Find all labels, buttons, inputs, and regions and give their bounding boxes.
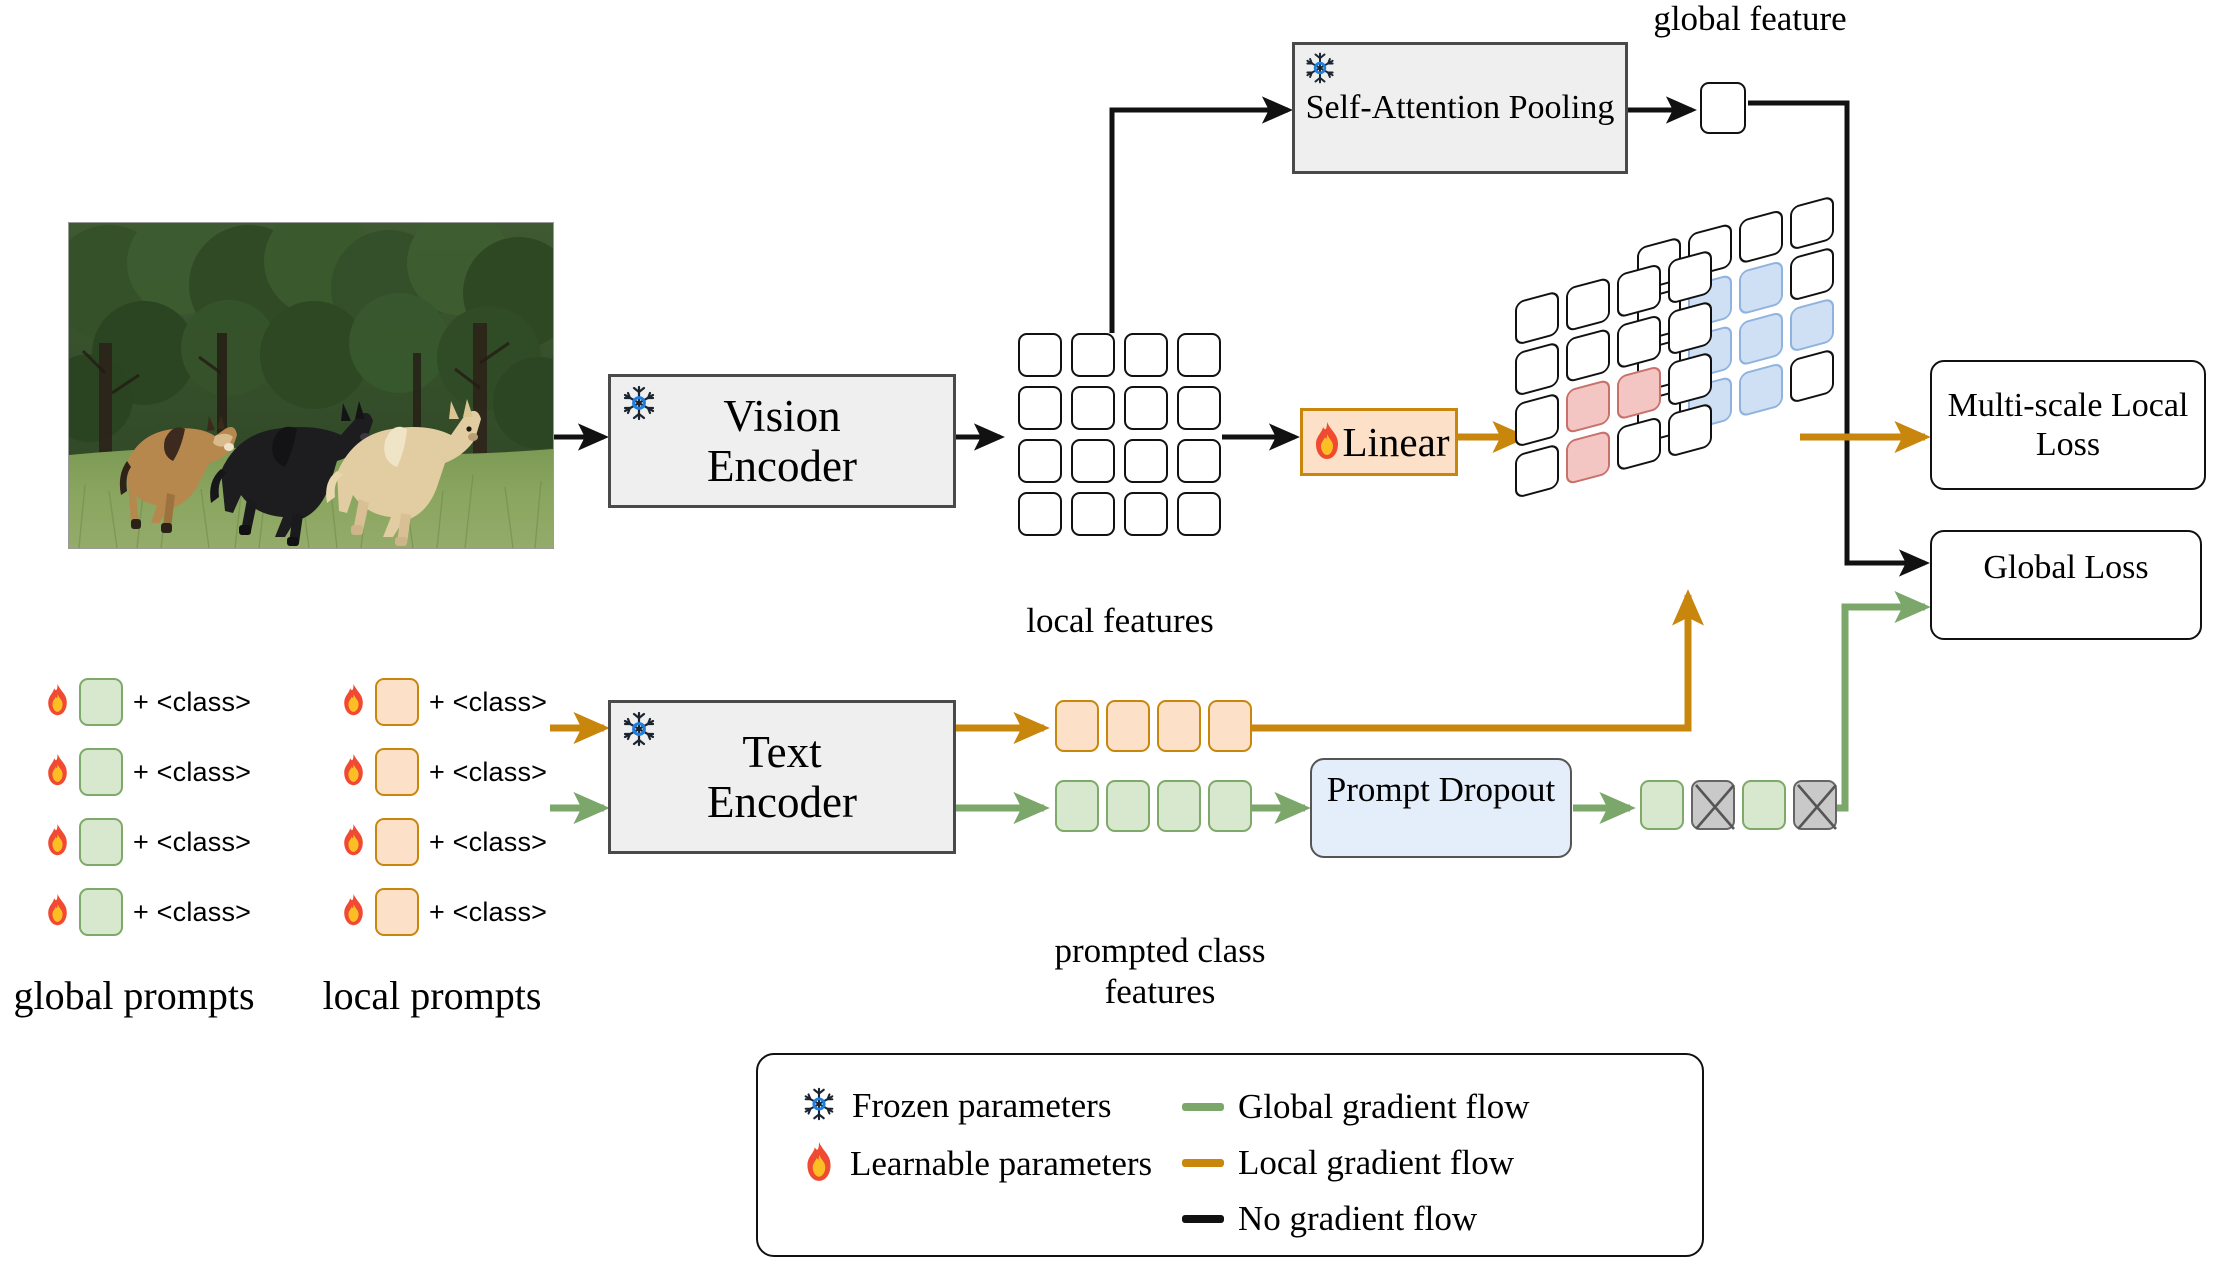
global-prompt-class-label: + <class> [133, 687, 251, 718]
local-feature-cell [1071, 386, 1115, 430]
prompted-class-features-caption: prompted class features [1000, 930, 1320, 1013]
multiscale-feature-grids [1515, 240, 1815, 560]
global-feature-token [1700, 82, 1746, 134]
multiscale-local-loss-box[interactable]: Multi-scale Local Loss [1930, 360, 2206, 490]
prompted-class-features-caption-line1: prompted class [1000, 930, 1320, 971]
local-prompt-token [375, 818, 419, 866]
prompt-dropout-label: Prompt Dropout [1327, 770, 1555, 810]
legend-local-flow-label: Local gradient flow [1238, 1143, 1514, 1183]
multiscale-local-loss-label-line1: Multi-scale [1948, 387, 2103, 424]
global-prompt-class-label: + <class> [133, 827, 251, 858]
legend-global-flow-label: Global gradient flow [1238, 1087, 1530, 1127]
flame-icon [44, 753, 71, 791]
flame-icon [802, 1141, 836, 1187]
global-feature-caption: global feature [1590, 0, 1910, 39]
local-feature-cell [1071, 439, 1115, 483]
prompted-class-feature-global [1157, 780, 1201, 832]
flame-icon [44, 823, 71, 861]
local-feature-cell [1177, 386, 1221, 430]
local-prompt-class-label: + <class> [429, 757, 547, 788]
local-flow-swatch [1182, 1159, 1224, 1167]
local-prompt-token [375, 678, 419, 726]
global-prompt-token [79, 818, 123, 866]
global-prompt-class-label: + <class> [133, 757, 251, 788]
local-feature-cell [1018, 333, 1062, 377]
global-prompt-token [79, 678, 123, 726]
legend-learnable-label: Learnable parameters [850, 1144, 1152, 1184]
local-prompt-row: + <class> [340, 888, 600, 936]
multiscale-feature-cell [1566, 277, 1610, 333]
global-prompts-column: + <class>+ <class>+ <class>+ <class> [44, 678, 304, 958]
multiscale-feature-cell [1515, 290, 1559, 346]
legend-learnable-row: Learnable parameters [802, 1141, 1152, 1187]
prompted-class-features-caption-line2: features [1000, 971, 1320, 1012]
local-prompt-class-label: + <class> [429, 827, 547, 858]
prompted-class-feature-local [1055, 700, 1099, 752]
legend-frozen-label: Frozen parameters [852, 1086, 1111, 1126]
prompted-class-feature-global [1106, 780, 1150, 832]
prompted-class-features-global [1055, 780, 1259, 832]
local-feature-cell [1124, 439, 1168, 483]
global-loss-box[interactable]: Global Loss [1930, 530, 2202, 640]
local-feature-cell [1071, 492, 1115, 536]
self-attention-pooling-block[interactable]: Self-Attention Pooling [1292, 42, 1628, 174]
global-loss-label: Global Loss [1983, 548, 2148, 587]
multiscale-feature-cell [1566, 328, 1610, 384]
prompted-class-feature-local [1208, 700, 1252, 752]
text-encoder-label-line2: Encoder [707, 777, 857, 827]
legend-no-flow-row: No gradient flow [1182, 1199, 1477, 1239]
flame-icon [340, 823, 367, 861]
snowflake-icon [800, 1085, 838, 1127]
prompted-class-feature-local [1106, 700, 1150, 752]
local-feature-cell [1124, 492, 1168, 536]
local-prompt-token [375, 888, 419, 936]
legend-frozen-row: Frozen parameters [800, 1085, 1111, 1127]
dropout-kept-token [1742, 780, 1786, 830]
flame-icon [340, 893, 367, 931]
flame-icon [1311, 421, 1343, 468]
local-prompt-row: + <class> [340, 818, 600, 866]
multiscale-feature-cell [1515, 443, 1559, 499]
cross-icon [1693, 782, 1737, 832]
multiscale-feature-cell [1515, 341, 1559, 397]
local-prompt-row: + <class> [340, 748, 600, 796]
prompt-dropout-block[interactable]: Prompt Dropout [1310, 758, 1572, 858]
local-feature-cell [1071, 333, 1115, 377]
legend-local-flow-row: Local gradient flow [1182, 1143, 1514, 1183]
text-encoder-label-line1: Text [707, 727, 857, 777]
local-features-caption: local features [970, 600, 1270, 641]
global-prompt-token [79, 888, 123, 936]
flame-icon [340, 683, 367, 721]
local-prompts-caption: local prompts [292, 972, 572, 1019]
dropout-dropped-token [1793, 780, 1837, 830]
arrow-local-features-to-self-attention-pooling [1112, 110, 1288, 333]
local-prompt-row: + <class> [340, 678, 600, 726]
global-prompt-row: + <class> [44, 888, 304, 936]
global-prompt-class-label: + <class> [133, 897, 251, 928]
local-feature-cell [1177, 492, 1221, 536]
cross-icon [1795, 782, 1839, 832]
local-feature-cell [1177, 439, 1221, 483]
self-attention-pooling-label-line2: Pooling [1509, 89, 1615, 126]
global-prompt-row: + <class> [44, 678, 304, 726]
local-prompt-token [375, 748, 419, 796]
prompted-class-feature-local [1157, 700, 1201, 752]
legend-global-flow-row: Global gradient flow [1182, 1087, 1530, 1127]
arrow-dropped-features-to-global-loss [1832, 607, 1925, 808]
snowflake-icon [619, 709, 659, 757]
vision-encoder-block[interactable]: Vision Encoder [608, 374, 956, 508]
global-prompt-row: + <class> [44, 818, 304, 866]
multiscale-feature-cell [1566, 430, 1610, 486]
vision-encoder-label-line1: Vision [707, 391, 857, 441]
horses-photo-illustration [69, 223, 553, 548]
vision-encoder-label-line2: Encoder [707, 441, 857, 491]
multiscale-feature-cell [1739, 260, 1783, 316]
local-feature-cell [1177, 333, 1221, 377]
flame-icon [44, 893, 71, 931]
prompted-class-features-local [1055, 700, 1259, 752]
local-feature-cell [1018, 439, 1062, 483]
prompted-class-feature-global [1208, 780, 1252, 832]
text-encoder-block[interactable]: Text Encoder [608, 700, 956, 854]
legend-no-flow-label: No gradient flow [1238, 1199, 1477, 1239]
dropout-output-sequence [1640, 780, 1844, 830]
global-prompts-caption: global prompts [0, 972, 274, 1019]
flame-icon [44, 683, 71, 721]
global-flow-swatch [1182, 1103, 1224, 1111]
diagram-canvas: Vision Encoder Self-Attention Pooli [0, 0, 2214, 1270]
local-prompts-column: + <class>+ <class>+ <class>+ <class> [340, 678, 600, 958]
snowflake-icon [1302, 50, 1338, 93]
multiscale-feature-cell [1566, 379, 1610, 435]
multiscale-feature-cell [1739, 311, 1783, 367]
local-feature-cell [1124, 333, 1168, 377]
multiscale-feature-cell [1617, 416, 1661, 472]
local-feature-cell [1018, 492, 1062, 536]
legend-box: Frozen parameters Learnable parameters G… [756, 1053, 1704, 1257]
no-flow-swatch [1182, 1215, 1224, 1223]
linear-label: Linear [1343, 418, 1450, 466]
flame-icon [340, 753, 367, 791]
local-feature-cell [1124, 386, 1168, 430]
local-prompt-class-label: + <class> [429, 687, 547, 718]
local-feature-cell [1018, 386, 1062, 430]
global-prompt-token [79, 748, 123, 796]
input-image [68, 222, 554, 549]
arrow-class-features-to-grid [1245, 595, 1688, 728]
snowflake-icon [619, 383, 659, 431]
local-features-grid [1018, 333, 1222, 541]
dropout-kept-token [1640, 780, 1684, 830]
local-prompt-class-label: + <class> [429, 897, 547, 928]
linear-block[interactable]: Linear [1300, 408, 1458, 476]
prompted-class-feature-global [1055, 780, 1099, 832]
dropout-dropped-token [1691, 780, 1735, 830]
global-prompt-row: + <class> [44, 748, 304, 796]
multiscale-feature-cell [1739, 362, 1783, 418]
multiscale-feature-cell [1515, 392, 1559, 448]
